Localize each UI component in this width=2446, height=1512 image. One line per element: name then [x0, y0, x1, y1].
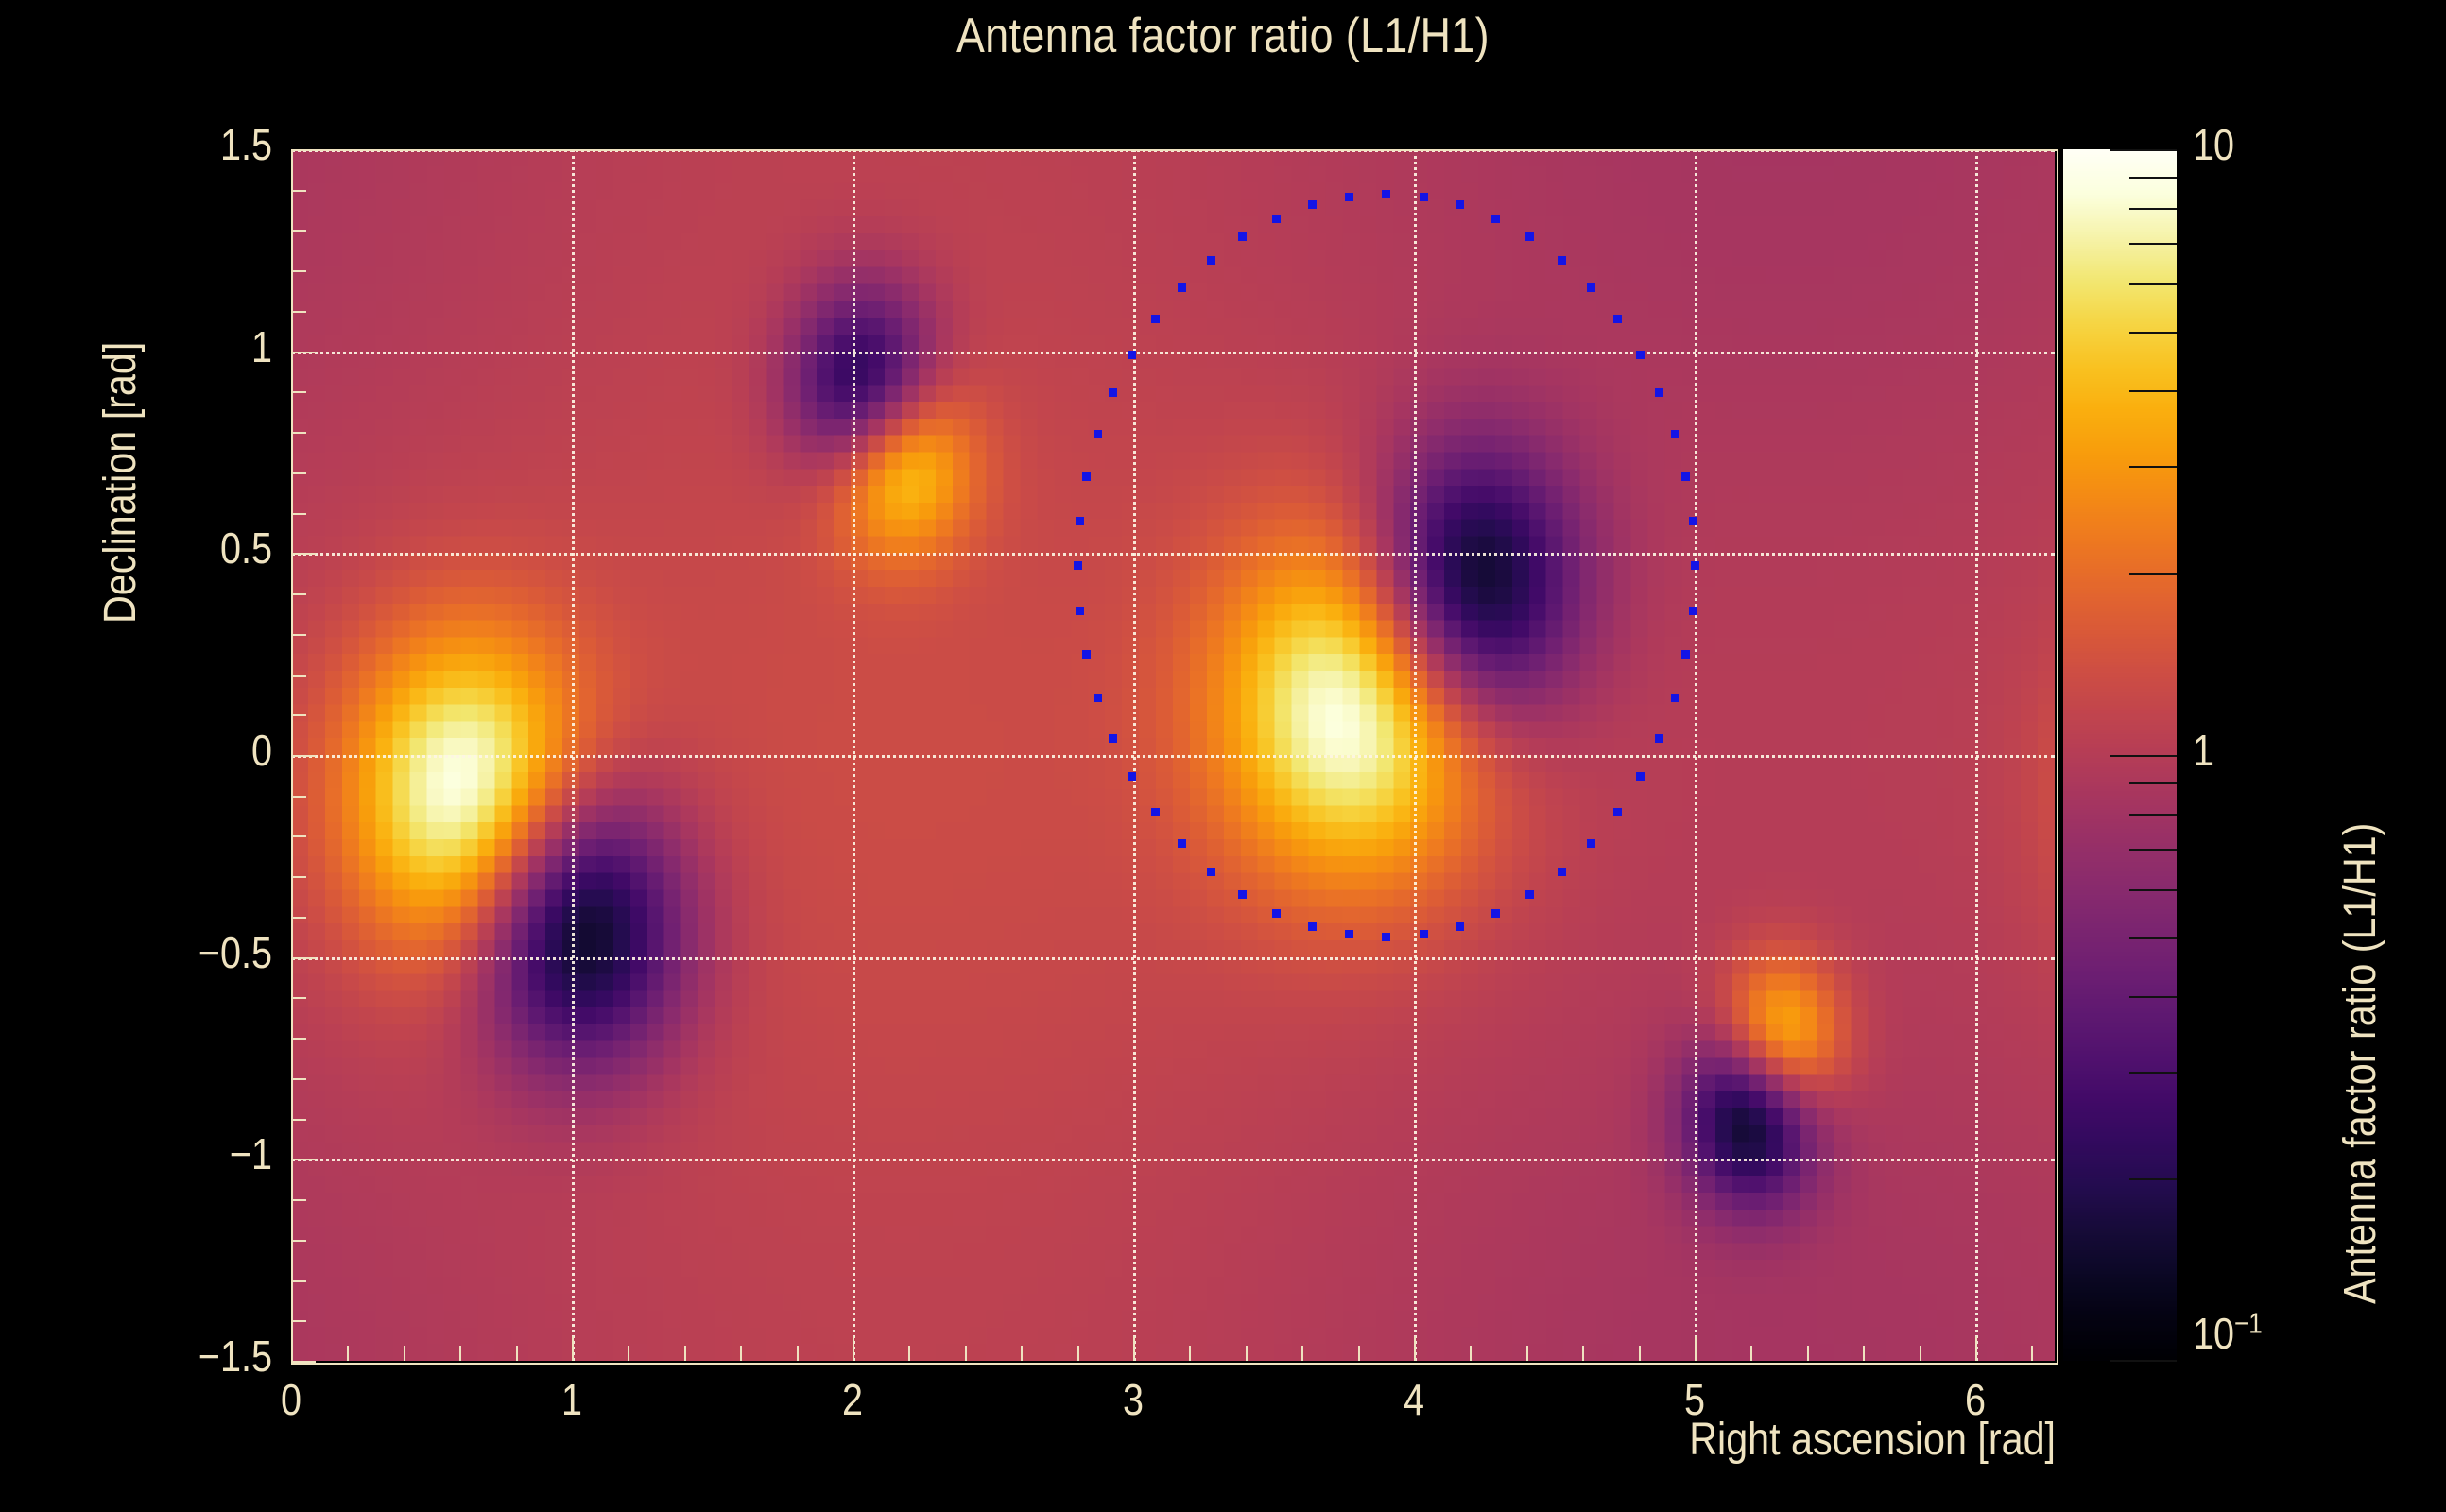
contour-dot	[1558, 868, 1566, 876]
y-axis-tick	[291, 835, 306, 837]
x-axis-tick	[1807, 1346, 1809, 1361]
contour-dot	[1613, 315, 1622, 323]
x-axis-tick	[516, 1346, 518, 1361]
contour-dot	[1308, 922, 1317, 931]
x-axis-tick	[1639, 1346, 1641, 1361]
gridline-horizontal	[291, 755, 2055, 758]
contour-dot	[1420, 193, 1428, 201]
y-axis-tick	[291, 1038, 306, 1039]
colorbar-tick-label: 10	[2193, 119, 2234, 170]
y-axis-tick	[291, 755, 316, 757]
contour-dot	[1178, 839, 1186, 848]
colorbar	[2063, 149, 2177, 1361]
contour-dot	[1420, 930, 1428, 938]
x-axis-tick-label: 2	[803, 1374, 901, 1425]
x-axis-tick	[965, 1346, 967, 1361]
x-axis-tick	[740, 1346, 742, 1361]
contour-dot	[1345, 193, 1353, 201]
gridline-horizontal	[291, 957, 2055, 960]
gridline-horizontal	[291, 352, 2055, 354]
colorbar-title: Antenna factor ratio (L1/H1)	[2334, 823, 2386, 1304]
contour-dot	[1082, 472, 1091, 481]
x-axis-tick-label: 0	[242, 1374, 339, 1425]
y-axis-tick	[291, 1320, 306, 1322]
x-axis-tick-label: 3	[1084, 1374, 1181, 1425]
contour-dot	[1272, 909, 1281, 918]
gridline-horizontal	[291, 1159, 2055, 1161]
contour-dot	[1613, 808, 1622, 816]
x-axis-tick	[1189, 1346, 1191, 1361]
contour-dot	[1636, 351, 1645, 359]
contour-dot	[1207, 868, 1215, 876]
contour-dot	[1128, 351, 1136, 359]
x-axis-tick	[1358, 1346, 1360, 1361]
contour-dot	[1238, 890, 1247, 899]
contour-dot	[1525, 890, 1534, 899]
contour-dot	[1525, 232, 1534, 241]
contour-dot	[1691, 561, 1699, 570]
contour-dot	[1689, 517, 1697, 525]
x-axis-tick	[1246, 1346, 1248, 1361]
y-axis-tick-label: 0.5	[134, 523, 272, 574]
y-axis-tick-label: 0	[134, 725, 272, 776]
contour-dot	[1671, 430, 1679, 438]
contour-dot	[1109, 734, 1117, 743]
y-axis-tick-label: −1	[134, 1128, 272, 1179]
plot-canvas: Antenna factor ratio (L1/H1) 0123456 −1.…	[0, 0, 2446, 1512]
contour-dot	[1587, 839, 1595, 848]
x-axis-tick	[1582, 1346, 1584, 1361]
contour-dot	[1178, 283, 1186, 292]
y-axis-title: Declination [rad]	[95, 342, 146, 624]
x-axis-tick	[347, 1346, 349, 1361]
contour-dot	[1681, 650, 1690, 659]
y-axis-tick	[291, 593, 306, 595]
y-axis-tick	[291, 270, 306, 272]
x-axis-tick	[404, 1346, 405, 1361]
contour-dot	[1151, 808, 1160, 816]
x-axis-tick	[291, 1336, 293, 1361]
contour-dot	[1238, 232, 1247, 241]
contour-dot	[1272, 215, 1281, 223]
contour-dot	[1558, 256, 1566, 265]
y-axis-tick-label: 1	[134, 321, 272, 372]
page-title: Antenna factor ratio (L1/H1)	[171, 8, 2275, 64]
x-axis-tick	[1695, 1336, 1697, 1361]
y-axis-tick	[291, 957, 316, 959]
y-axis-tick	[291, 1199, 306, 1201]
contour-dot	[1382, 190, 1390, 198]
x-axis-tick	[1863, 1346, 1865, 1361]
contour-dot	[1689, 607, 1697, 615]
x-axis-tick	[1301, 1346, 1303, 1361]
y-axis-tick-label: −1.5	[134, 1331, 272, 1382]
contour-dot	[1094, 430, 1102, 438]
contour-dot	[1109, 388, 1117, 397]
x-axis-tick	[1750, 1346, 1752, 1361]
y-axis-tick	[291, 391, 306, 393]
x-axis-tick	[1470, 1346, 1472, 1361]
heatmap-frame	[291, 149, 2055, 1361]
y-axis-tick	[291, 876, 306, 878]
y-axis-tick-label: 1.5	[134, 119, 272, 170]
x-axis-tick	[2031, 1346, 2033, 1361]
y-axis-tick	[291, 230, 306, 232]
x-axis-tick	[1414, 1336, 1416, 1361]
x-axis-tick	[628, 1346, 629, 1361]
y-axis-tick-label: −0.5	[134, 927, 272, 978]
y-axis-tick	[291, 432, 306, 434]
x-axis-tick	[1021, 1346, 1023, 1361]
y-axis-tick	[291, 149, 316, 151]
contour-dot	[1681, 472, 1690, 481]
contour-dot	[1082, 650, 1091, 659]
colorbar-tick-label: 1	[2193, 725, 2213, 776]
y-axis-tick	[291, 352, 316, 353]
contour-dot	[1655, 388, 1663, 397]
y-axis-tick	[291, 634, 306, 636]
contour-dot	[1345, 930, 1353, 938]
y-axis-tick	[291, 1361, 316, 1363]
y-axis-tick	[291, 1078, 306, 1080]
contour-dot	[1655, 734, 1663, 743]
contour-dot	[1382, 933, 1390, 941]
contour-dot	[1128, 772, 1136, 781]
y-axis-tick	[291, 714, 306, 716]
y-axis-tick	[291, 1159, 316, 1160]
contour-dot	[1308, 200, 1317, 209]
contour-dot	[1094, 694, 1102, 702]
y-axis-tick	[291, 997, 306, 999]
x-axis-tick	[1077, 1346, 1079, 1361]
x-axis-tick	[908, 1346, 910, 1361]
contour-dot	[1074, 561, 1082, 570]
x-axis-title: Right ascension [rad]	[1182, 1414, 2057, 1466]
x-axis-tick	[1975, 1336, 1977, 1361]
contour-dot	[1207, 256, 1215, 265]
y-axis-tick	[291, 675, 306, 677]
contour-dot	[1076, 517, 1084, 525]
colorbar-gradient	[2063, 149, 2177, 1361]
x-axis-tick	[684, 1346, 686, 1361]
y-axis-tick	[291, 796, 306, 798]
x-axis-tick-label: 1	[523, 1374, 620, 1425]
x-axis-tick	[797, 1346, 799, 1361]
contour-dot	[1636, 772, 1645, 781]
x-axis-tick	[572, 1336, 574, 1361]
y-axis-tick	[291, 553, 316, 555]
x-axis-tick	[1526, 1346, 1528, 1361]
x-axis-tick	[853, 1336, 854, 1361]
contour-dot	[1151, 315, 1160, 323]
gridline-horizontal	[291, 149, 2055, 152]
colorbar-tick-label: 10−1	[2193, 1308, 2263, 1359]
x-axis-tick	[459, 1346, 461, 1361]
contour-dot	[1076, 607, 1084, 615]
y-axis-tick	[291, 1280, 306, 1282]
x-axis-tick	[1133, 1336, 1135, 1361]
contour-dot	[1587, 283, 1595, 292]
y-axis-tick	[291, 472, 306, 474]
y-axis-tick	[291, 917, 306, 919]
y-axis-tick	[291, 1240, 306, 1242]
contour-dot	[1456, 200, 1464, 209]
gridline-horizontal	[291, 553, 2055, 556]
y-axis-tick	[291, 190, 306, 192]
contour-dot	[1491, 215, 1500, 223]
x-axis-tick	[1920, 1346, 1921, 1361]
y-axis-tick	[291, 513, 306, 515]
contour-dot	[1456, 922, 1464, 931]
contour-dot	[1491, 909, 1500, 918]
y-axis-tick	[291, 311, 306, 313]
y-axis-tick	[291, 1119, 306, 1121]
contour-dot	[1671, 694, 1679, 702]
